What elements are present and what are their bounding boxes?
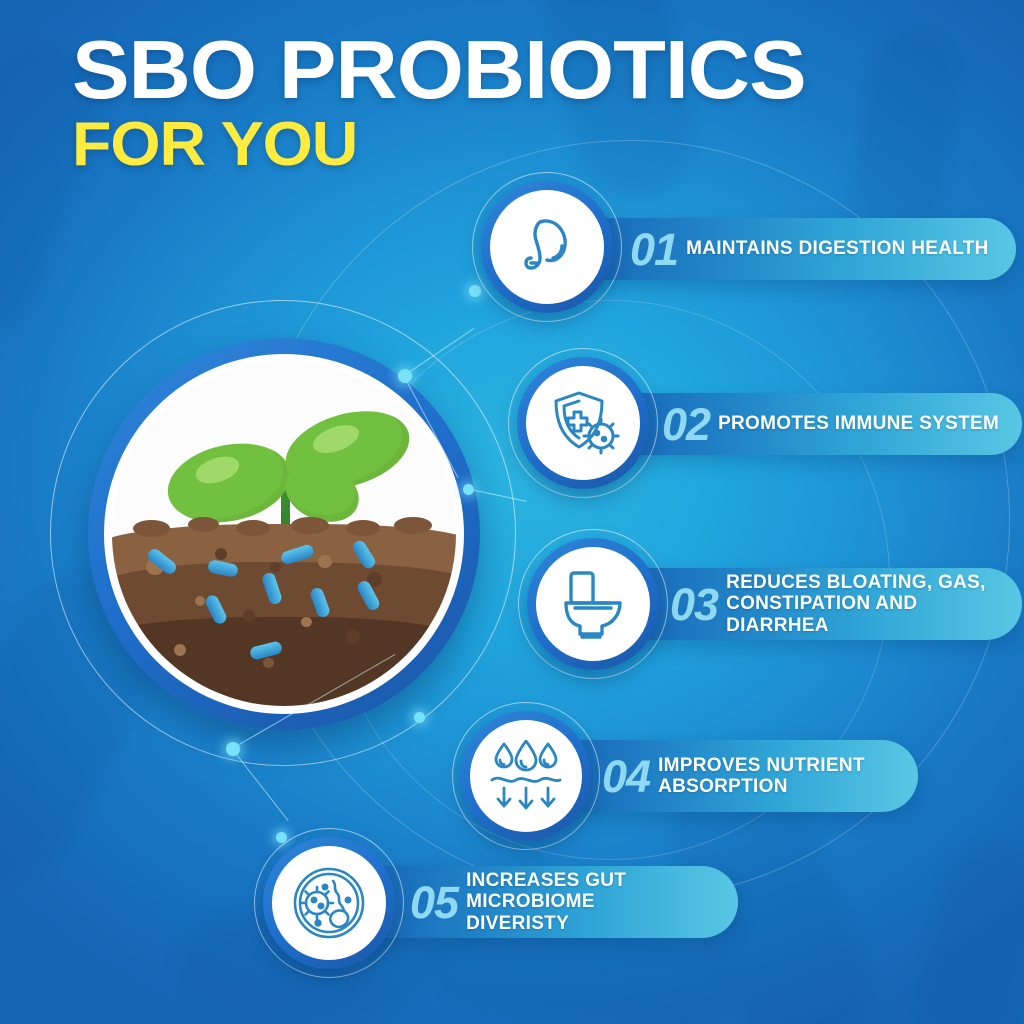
benefit-number-01: 01 bbox=[630, 227, 678, 272]
soil-pebble bbox=[346, 630, 360, 644]
shield-virus-icon bbox=[546, 387, 620, 459]
microbiome-petri-icon bbox=[291, 865, 367, 941]
soil-pebble bbox=[195, 596, 205, 606]
soil-clod bbox=[236, 520, 270, 535]
network-node bbox=[226, 742, 240, 756]
soil-clod bbox=[394, 517, 432, 534]
soil-clod bbox=[188, 517, 219, 532]
icon-badge-04[interactable] bbox=[461, 711, 591, 841]
benefit-number-04: 04 bbox=[602, 754, 650, 799]
soil-clod bbox=[346, 520, 380, 535]
soil-pebble bbox=[215, 548, 227, 560]
stomach-icon bbox=[512, 212, 582, 282]
benefit-text-01: MAINTAINS DIGESTION HEALTH bbox=[686, 238, 989, 259]
benefit-text-04-line2: ABSORPTION bbox=[658, 776, 788, 797]
icon-inner-01 bbox=[490, 190, 604, 304]
benefit-number-03: 03 bbox=[670, 582, 718, 627]
benefit-pill-05[interactable]: 05 INCREASES GUT MICROBIOME DIVERISTY bbox=[352, 866, 738, 938]
network-node bbox=[398, 369, 412, 383]
benefit-number-05: 05 bbox=[410, 880, 458, 925]
icon-badge-03[interactable] bbox=[527, 538, 659, 670]
network-node bbox=[469, 285, 481, 297]
soil-pebble bbox=[243, 610, 255, 622]
hero-seedling-soil-image bbox=[112, 362, 456, 706]
benefit-text-02: PROMOTES IMMUNE SYSTEM bbox=[718, 413, 999, 434]
network-node bbox=[463, 484, 474, 495]
soil-pebble bbox=[263, 658, 273, 668]
soil-clod bbox=[291, 517, 329, 534]
soil-pebble bbox=[174, 644, 186, 656]
benefit-text-03-line2: CONSTIPATION AND DIARRHEA bbox=[726, 593, 917, 635]
icon-inner-05 bbox=[272, 846, 386, 960]
page-title: SBO PROBIOTICS bbox=[72, 32, 806, 108]
toilet-icon bbox=[558, 567, 628, 641]
page-subtitle: FOR YOU bbox=[72, 114, 806, 176]
soil-pebble bbox=[270, 562, 280, 572]
soil-pebble bbox=[301, 617, 311, 627]
benefit-text-03-line1: REDUCES BLOATING, GAS, bbox=[726, 572, 986, 593]
title-block: SBO PROBIOTICS FOR YOU bbox=[72, 32, 777, 176]
droplets-absorption-icon bbox=[488, 740, 564, 812]
benefit-text-04: IMPROVES NUTRIENT ABSORPTION bbox=[658, 755, 865, 798]
benefit-text-05-line2: DIVERISTY bbox=[466, 913, 569, 934]
background-capsule-blob bbox=[908, 832, 1024, 1024]
icon-inner-04 bbox=[470, 720, 582, 832]
icon-badge-05[interactable] bbox=[263, 837, 395, 969]
benefit-text-03: REDUCES BLOATING, GAS, CONSTIPATION AND … bbox=[726, 572, 1022, 636]
benefit-pill-01[interactable]: 01 MAINTAINS DIGESTION HEALTH bbox=[558, 218, 1016, 280]
network-node bbox=[414, 712, 425, 723]
infographic-canvas: SBO PROBIOTICS FOR YOU bbox=[0, 0, 1024, 1024]
benefit-text-04-line1: IMPROVES NUTRIENT bbox=[658, 755, 865, 776]
soil-layer-deep bbox=[112, 617, 456, 706]
benefit-text-05: INCREASES GUT MICROBIOME DIVERISTY bbox=[466, 870, 738, 934]
icon-inner-02 bbox=[526, 366, 640, 480]
icon-badge-02[interactable] bbox=[517, 357, 649, 489]
icon-badge-01[interactable] bbox=[481, 181, 613, 313]
benefit-text-05-line1: INCREASES GUT MICROBIOME bbox=[466, 870, 626, 912]
icon-inner-03 bbox=[536, 547, 650, 661]
benefit-number-02: 02 bbox=[662, 402, 710, 447]
